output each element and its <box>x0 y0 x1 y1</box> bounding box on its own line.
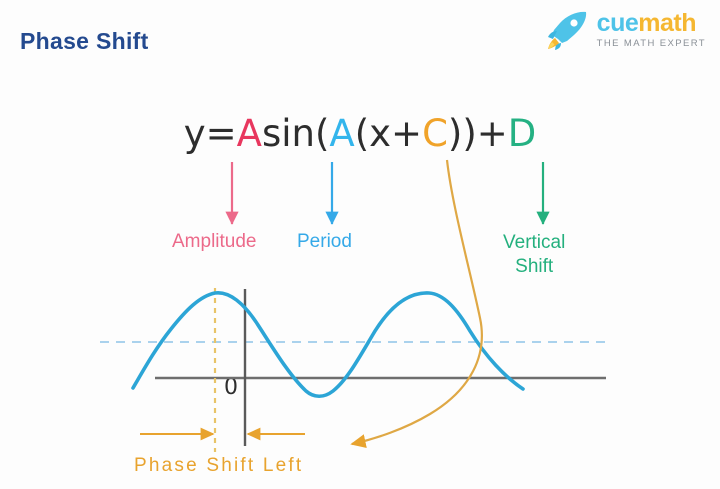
formula-token-amplitude-A: A <box>237 112 262 155</box>
axis-origin-label: 0 <box>224 375 238 400</box>
formula-expression: y=Asin(A(x+C))+D <box>0 112 720 155</box>
logo-word-cue: cue <box>597 9 639 37</box>
formula-token-phase-C: C <box>422 112 448 155</box>
arrow-phase-shift-curve <box>352 160 482 444</box>
label-vertical-shift-line1: Vertical <box>503 231 565 255</box>
logo-tagline: THE MATH EXPERT <box>597 39 706 49</box>
formula-token-x: x <box>369 112 391 155</box>
formula-token-plus-inner: + <box>391 112 422 155</box>
formula-token-open-paren-outer: ( <box>315 112 329 155</box>
formula-token-period-A: A <box>329 112 354 155</box>
label-amplitude: Amplitude <box>172 231 257 253</box>
label-phase-shift-left: Phase Shift Left <box>134 455 303 477</box>
formula-token-plus-outer: + <box>477 112 508 155</box>
formula-token-close-paren-outer: ) <box>462 112 476 155</box>
formula-token-sin: sin <box>262 112 315 155</box>
sine-curve <box>133 293 523 396</box>
formula-token-vertical-D: D <box>508 112 537 155</box>
illustration-canvas: Phase Shift cuemath THE MATH EXPERT y=As… <box>0 0 720 489</box>
formula-token-y: y <box>184 112 206 155</box>
rocket-icon <box>545 10 589 50</box>
cuemath-logo: cuemath THE MATH EXPERT <box>545 10 706 50</box>
graph-overlay <box>0 0 720 489</box>
formula-token-open-paren-inner: ( <box>355 112 369 155</box>
label-vertical-shift-line2: Shift <box>503 255 565 279</box>
label-vertical-shift: Vertical Shift <box>503 231 565 279</box>
page-title: Phase Shift <box>20 28 149 55</box>
formula-token-close-paren-inner: ) <box>448 112 462 155</box>
label-period: Period <box>297 231 352 253</box>
logo-word-math: math <box>638 9 696 37</box>
formula-token-equals: = <box>206 112 237 155</box>
